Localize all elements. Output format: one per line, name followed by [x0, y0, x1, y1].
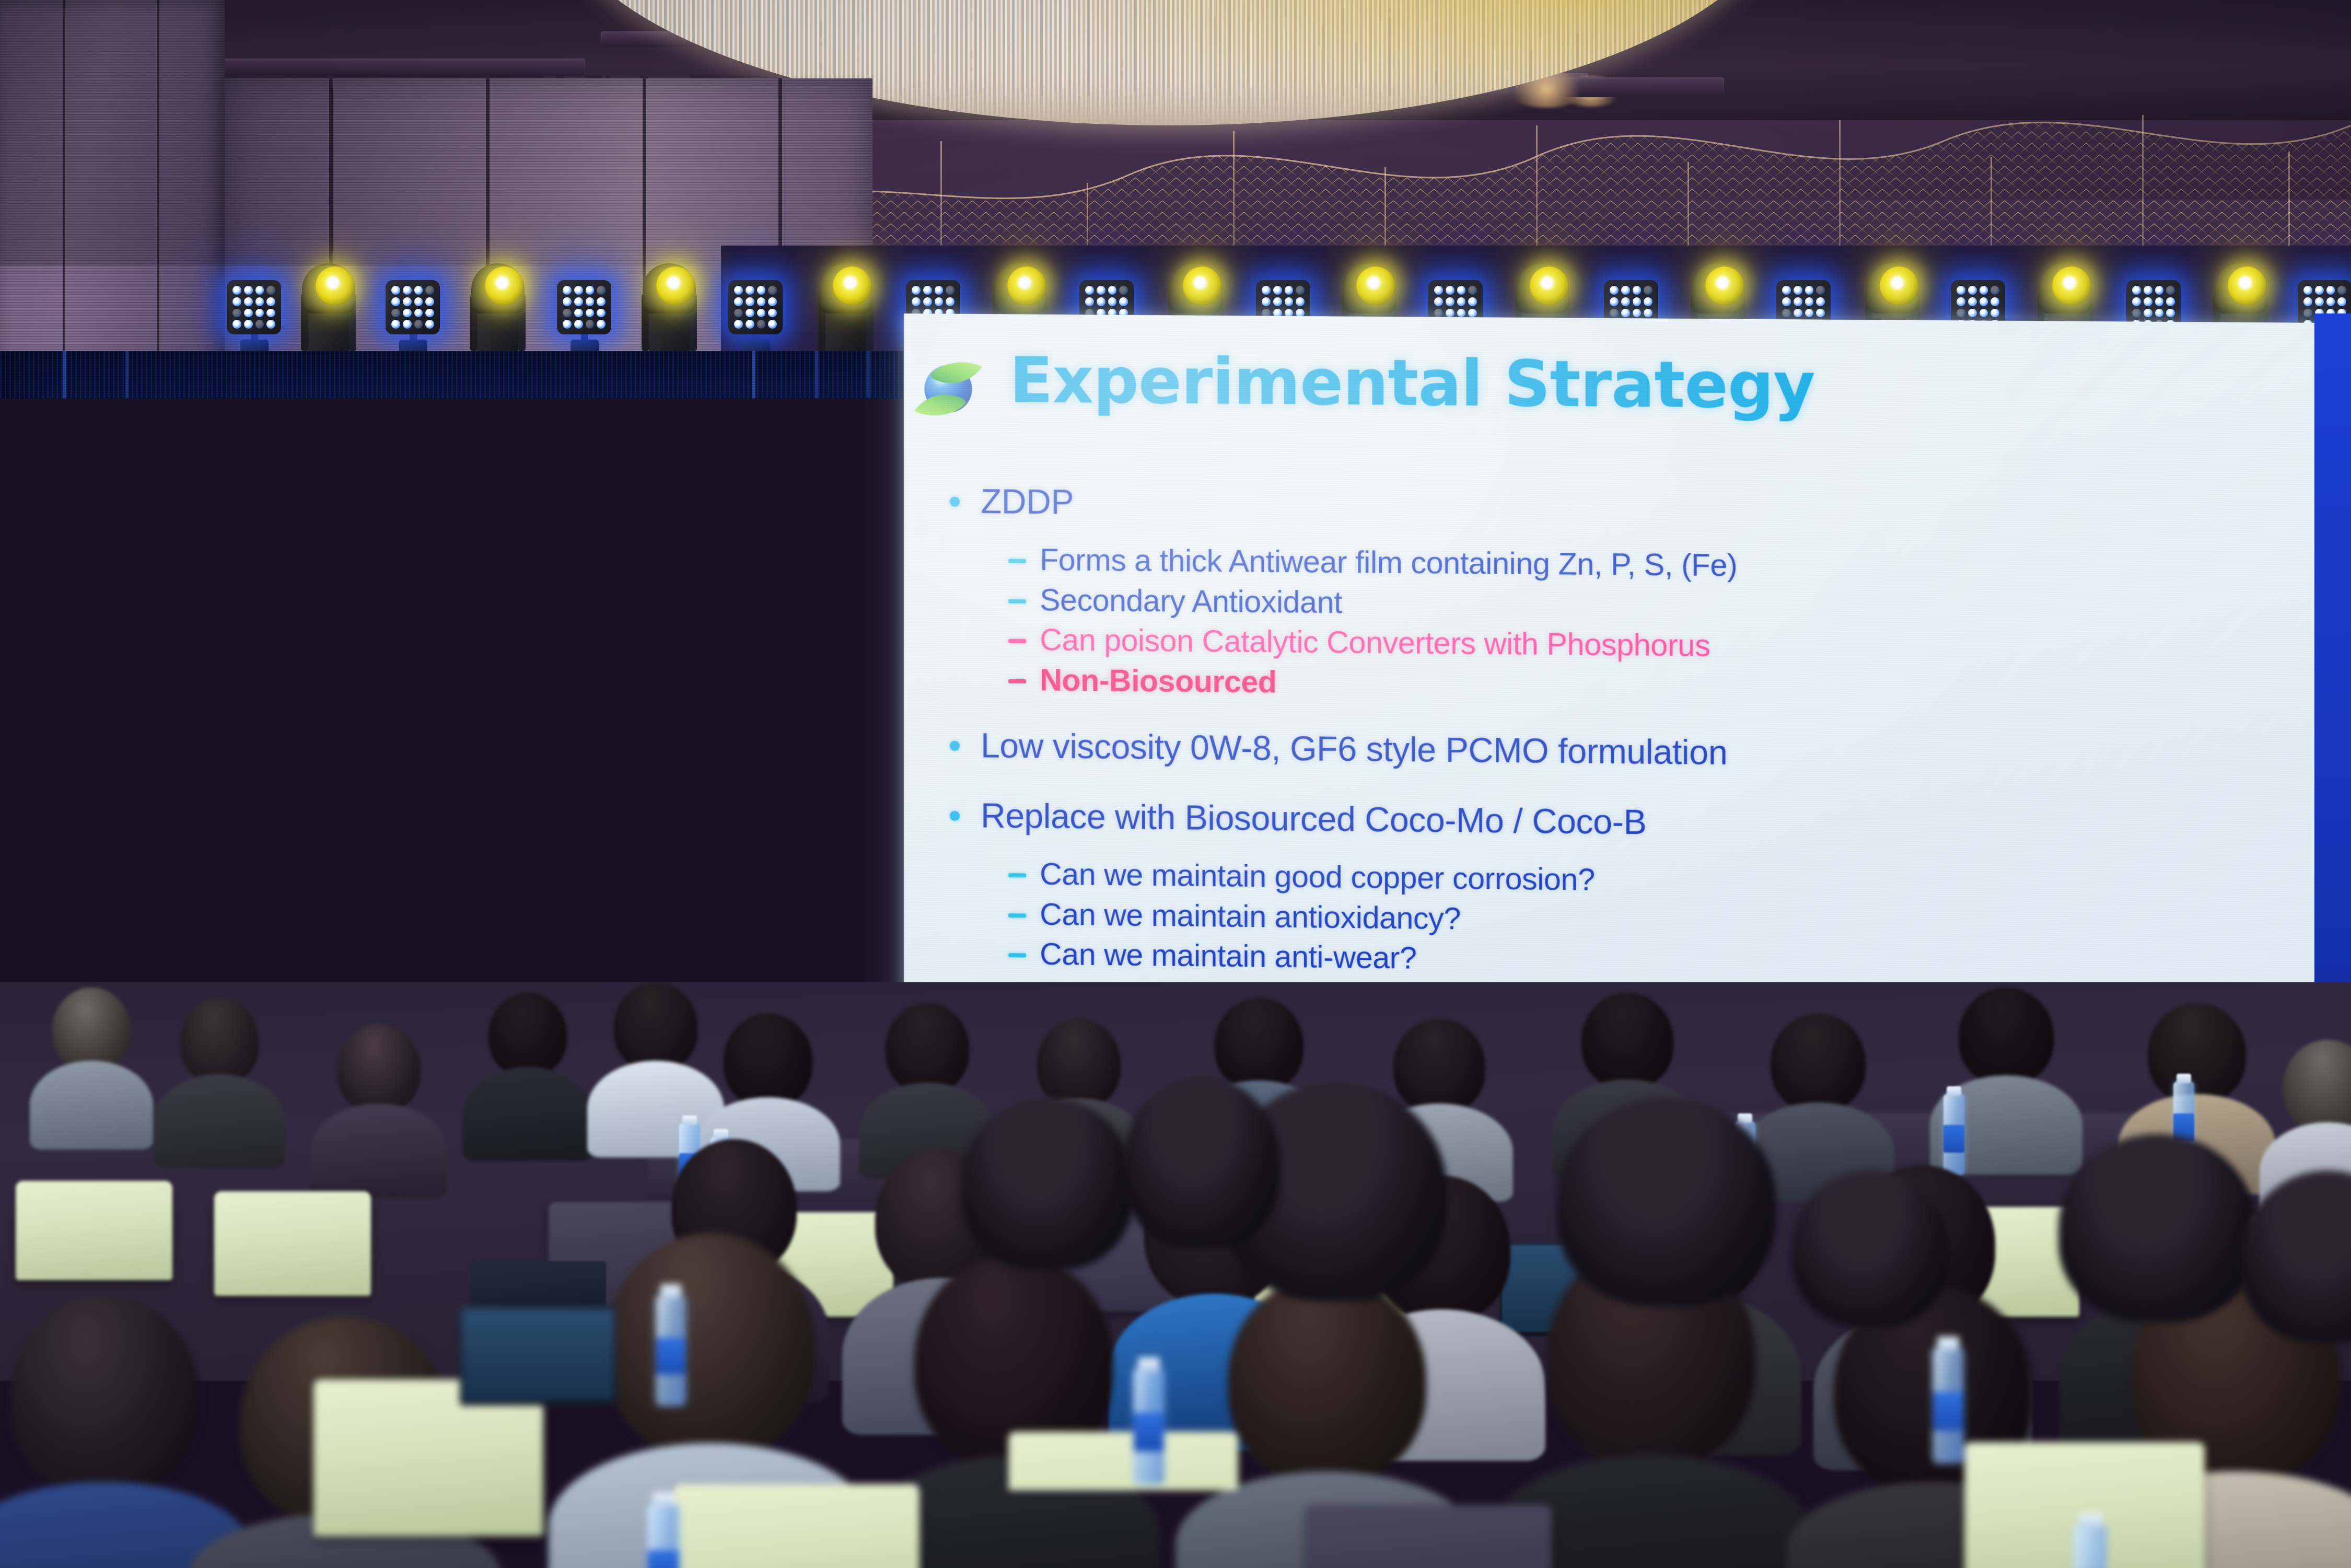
speaker-eye [496, 624, 529, 640]
audience-member [465, 993, 590, 1160]
audience-member [157, 998, 282, 1165]
audience-member [1792, 1170, 1949, 1327]
conference-photo-scene: 第三十七届润滑技术论坛 THE 37TH FORUM FOR LUBRICATI… [0, 0, 2351, 1568]
par-led-fixture [726, 277, 785, 355]
bullet-dot-icon [950, 811, 960, 821]
audience-member [313, 1024, 444, 1191]
bullet-dash-icon [1008, 954, 1026, 958]
podium-sign: 第三十七届润滑技术论坛 THE 37TH FORUM FOR LUBRICATI… [282, 931, 413, 973]
audience-member [31, 988, 152, 1144]
audience-member [2058, 1134, 2257, 1322]
moving-head-spotlight [813, 263, 879, 355]
bullet-text: Forms a thick Antiwear film containing Z… [1040, 541, 1737, 584]
par-led-fixture [383, 277, 442, 355]
laptop-brand-label: ThinkPad [852, 939, 885, 947]
moving-head-spotlight [296, 263, 362, 355]
audience-area [0, 982, 2351, 1568]
bullet-dash-icon [1008, 639, 1026, 643]
water-bottle [1134, 1369, 1164, 1484]
bullet-dash-icon [1008, 559, 1026, 563]
speaker-eye [380, 626, 413, 642]
bullet-text: Can poison Catalytic Converters with Pho… [1040, 622, 1710, 665]
par-led-fixture [555, 277, 613, 355]
list-item: ZDDP [950, 481, 2317, 533]
water-bottle [656, 1296, 685, 1406]
audience-member [815, 1061, 935, 1191]
bullet-text: Non-Biosourced [1040, 662, 1276, 701]
bullet-text: ZDDP [981, 481, 1074, 522]
list-item: Secondary Antioxidant [1008, 581, 2317, 630]
bullet-dash-icon [1008, 679, 1026, 683]
water-bottle [648, 1505, 679, 1568]
podium-sign-english: THE 37TH FORUM FOR LUBRICATION TECHNOLOG… [290, 953, 413, 966]
bullet-dot-icon [950, 741, 960, 751]
bullet-text: Secondary Antioxidant [1040, 582, 1342, 621]
speaker-beard [392, 683, 533, 793]
water-bottle [1144, 1520, 1177, 1568]
audience-member [1123, 1076, 1280, 1249]
par-led-fixture [225, 277, 283, 355]
audience-member [1557, 1097, 1776, 1306]
bullet-dash-icon [1008, 913, 1026, 917]
bullet-dot-icon [950, 497, 960, 507]
podium-sign-chinese: 第三十七届润滑技术论坛 [290, 937, 411, 951]
speaker-face [360, 503, 564, 780]
bullet-text: Low viscosity 0W-8, GF6 style PCMO formu… [981, 725, 1727, 773]
ltf-globe-logo [912, 351, 984, 424]
water-bottle [1943, 1094, 1964, 1175]
bullet-text: Replace with Biosourced Coco-Mo / Coco-B [981, 795, 1646, 843]
speaker-hair [351, 491, 573, 622]
audience-member [961, 1097, 1134, 1270]
bullet-text: Can we maintain good copper corrosion? [1040, 855, 1595, 898]
bullet-text: Can we maintain antioxidancy? [1040, 896, 1461, 937]
bullet-text: Can we maintain anti-wear? [1040, 936, 1416, 977]
page-title: Experimental Strategy [1009, 346, 1815, 419]
bullet-dash-icon [1008, 599, 1026, 603]
bullet-dash-icon [1008, 873, 1026, 877]
stage-laptop: ThinkPad [772, 878, 892, 956]
attendee-laptop [460, 1306, 616, 1406]
moving-head-spotlight [636, 263, 702, 355]
moving-head-spotlight [465, 263, 531, 355]
water-bottle [1933, 1348, 1963, 1463]
water-bottle [2074, 1526, 2106, 1568]
